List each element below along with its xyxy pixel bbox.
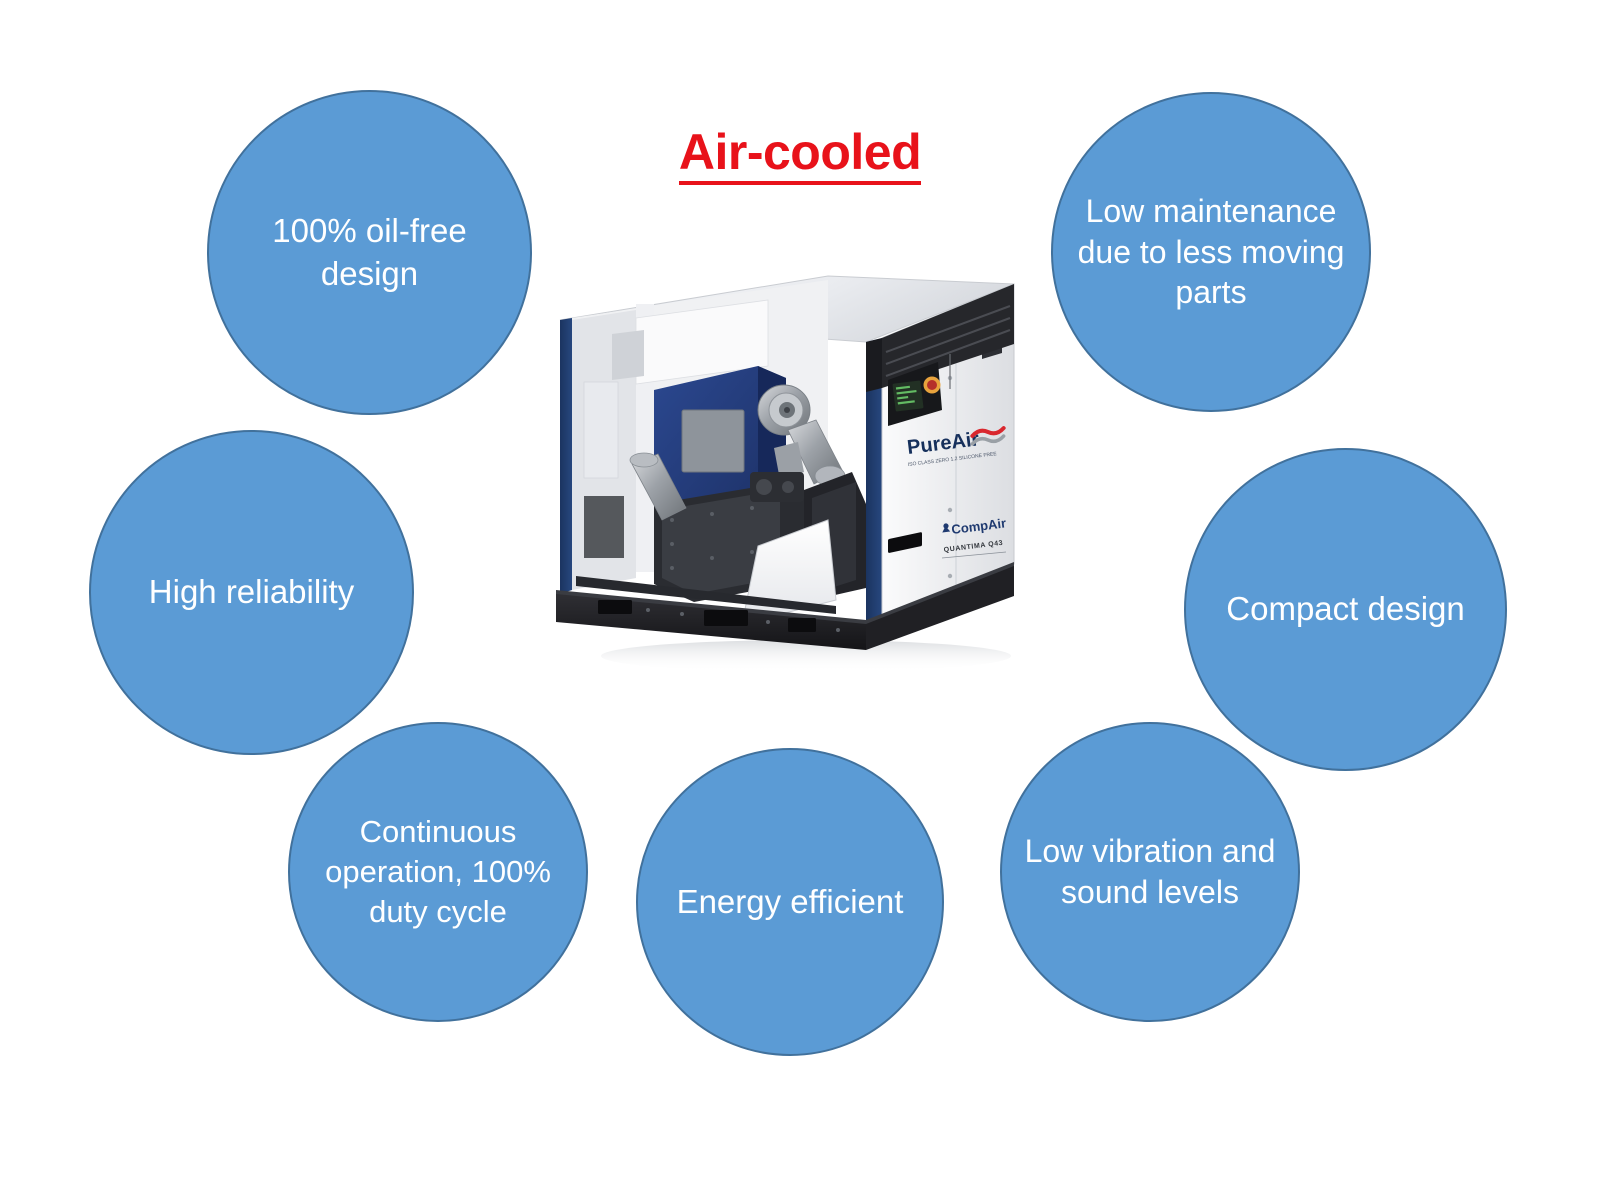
feature-bubble-high-reliability[interactable]: High reliability bbox=[89, 430, 414, 755]
feature-bubble-oil-free[interactable]: 100% oil-free design bbox=[207, 90, 532, 415]
feature-bubble-energy-efficient[interactable]: Energy efficient bbox=[636, 748, 944, 1056]
slide-canvas: Air-cooled bbox=[0, 0, 1600, 1188]
feature-bubble-energy-efficient-label: Energy efficient bbox=[654, 881, 926, 923]
feature-bubble-continuous-operation-label: Continuous operation, 100% duty cycle bbox=[306, 812, 570, 931]
feature-bubble-compact-design-label: Compact design bbox=[1202, 588, 1489, 630]
feature-bubble-compact-design[interactable]: Compact design bbox=[1184, 448, 1507, 771]
feature-bubble-continuous-operation[interactable]: Continuous operation, 100% duty cycle bbox=[288, 722, 588, 1022]
feature-bubble-low-vibration-label: Low vibration and sound levels bbox=[1018, 831, 1282, 913]
feature-bubble-low-maintenance[interactable]: Low maintenance due to less moving parts bbox=[1051, 92, 1371, 412]
feature-bubble-oil-free-label: 100% oil-free design bbox=[225, 210, 514, 294]
page-title: Air-cooled bbox=[540, 126, 1060, 185]
feature-bubble-high-reliability-label: High reliability bbox=[107, 571, 396, 613]
page-title-text: Air-cooled bbox=[679, 126, 921, 185]
air-compressor-image: PureAir ISO CLASS ZERO 1.2 SILICONE FREE… bbox=[536, 258, 1064, 678]
feature-bubble-low-maintenance-label: Low maintenance due to less moving parts bbox=[1069, 191, 1353, 314]
feature-bubble-low-vibration[interactable]: Low vibration and sound levels bbox=[1000, 722, 1300, 1022]
